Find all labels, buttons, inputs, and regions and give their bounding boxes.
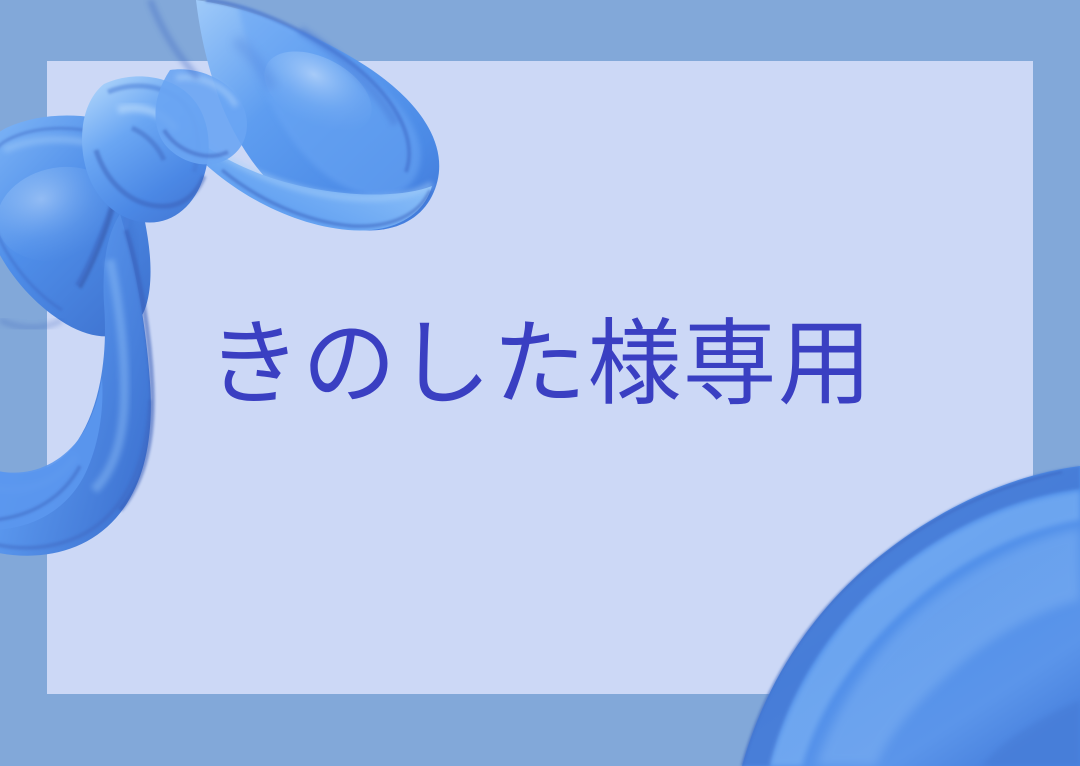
inner-panel: [47, 61, 1033, 694]
banner-canvas: きのした様専用: [0, 0, 1080, 766]
